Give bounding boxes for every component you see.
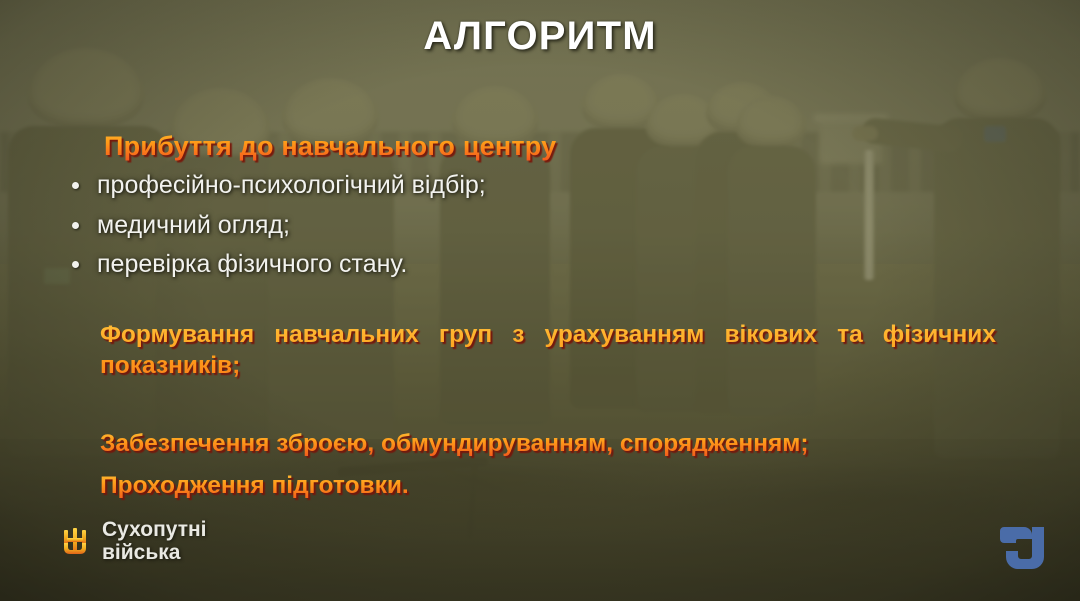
list-item: професійно-психологічний відбір; (64, 170, 486, 201)
list-item: перевірка фізичного стану. (64, 249, 486, 280)
list-item: медичний огляд; (64, 210, 486, 241)
slide-title: АЛГОРИТМ (0, 14, 1080, 59)
steps-block: Формування навчальних груп з урахуванням… (100, 320, 996, 502)
step-line-formation: Формування навчальних груп з урахуванням… (100, 320, 996, 413)
step-line-training: Проходження підготовки. (100, 471, 996, 502)
arrival-bullet-list: професійно-психологічний відбір; медични… (64, 170, 486, 289)
slide-content: АЛГОРИТМ Прибуття до навчального центру … (0, 0, 1080, 601)
brand-lockup: Сухопутні війська (62, 518, 207, 565)
step-line-equipment: Забезпечення зброєю, обмундируванням, сп… (100, 429, 996, 460)
trident-icon (62, 526, 88, 556)
brand-name: Сухопутні війська (102, 518, 207, 565)
section-heading-arrival: Прибуття до навчального центру (104, 131, 556, 162)
presentation-slide: АЛГОРИТМ Прибуття до навчального центру … (0, 0, 1080, 601)
